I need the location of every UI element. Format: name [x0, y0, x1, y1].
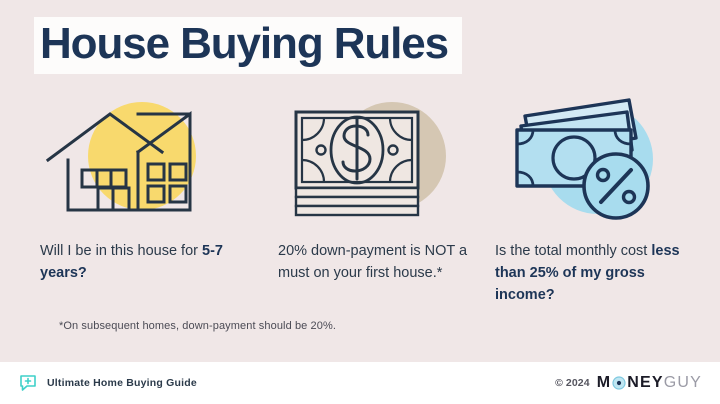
target-o-icon — [612, 376, 626, 390]
cash-stack-icon-container — [278, 92, 458, 224]
guide-link[interactable]: Ultimate Home Buying Guide — [18, 373, 197, 393]
caption-3-lead: Is the total monthly cost — [495, 243, 651, 259]
moneyguy-logo: M NEY GUY — [597, 374, 702, 392]
bills-percent-icon-container — [495, 92, 675, 224]
logo-m: M — [597, 374, 612, 392]
house-icon-container — [40, 92, 220, 224]
caption-1-lead: Will I be in this house for — [40, 243, 202, 259]
infographic-canvas: House Buying Rules — [0, 0, 720, 404]
logo-ney: NEY — [627, 374, 664, 392]
rule-column-2: 20% down-payment is NOT a must on your f… — [240, 92, 480, 306]
chat-plus-icon — [18, 373, 38, 393]
rule-column-1: Will I be in this house for 5-7 years? — [0, 92, 240, 306]
house-icon — [40, 92, 220, 224]
rule-caption-2: 20% down-payment is NOT a must on your f… — [278, 240, 468, 284]
brand-area: © 2024 M NEY GUY — [555, 374, 702, 392]
rules-columns: Will I be in this house for 5-7 years? — [0, 92, 720, 306]
cash-stack-icon — [278, 92, 458, 224]
bills-percent-icon — [495, 92, 675, 224]
page-title: House Buying Rules — [40, 20, 448, 68]
guide-label: Ultimate Home Buying Guide — [47, 377, 197, 389]
rule-caption-3: Is the total monthly cost less than 25% … — [495, 240, 685, 306]
rule-caption-1: Will I be in this house for 5-7 years? — [40, 240, 230, 284]
rule-column-3: Is the total monthly cost less than 25% … — [480, 92, 720, 306]
footer-bar: Ultimate Home Buying Guide © 2024 M NEY … — [0, 362, 720, 404]
logo-guy: GUY — [664, 374, 702, 392]
title-highlight-box: House Buying Rules — [34, 17, 462, 74]
footnote-text: *On subsequent homes, down-payment shoul… — [59, 320, 336, 332]
caption-2-lead: 20% down-payment is NOT a must on your f… — [278, 243, 467, 281]
copyright-text: © 2024 — [555, 377, 590, 389]
